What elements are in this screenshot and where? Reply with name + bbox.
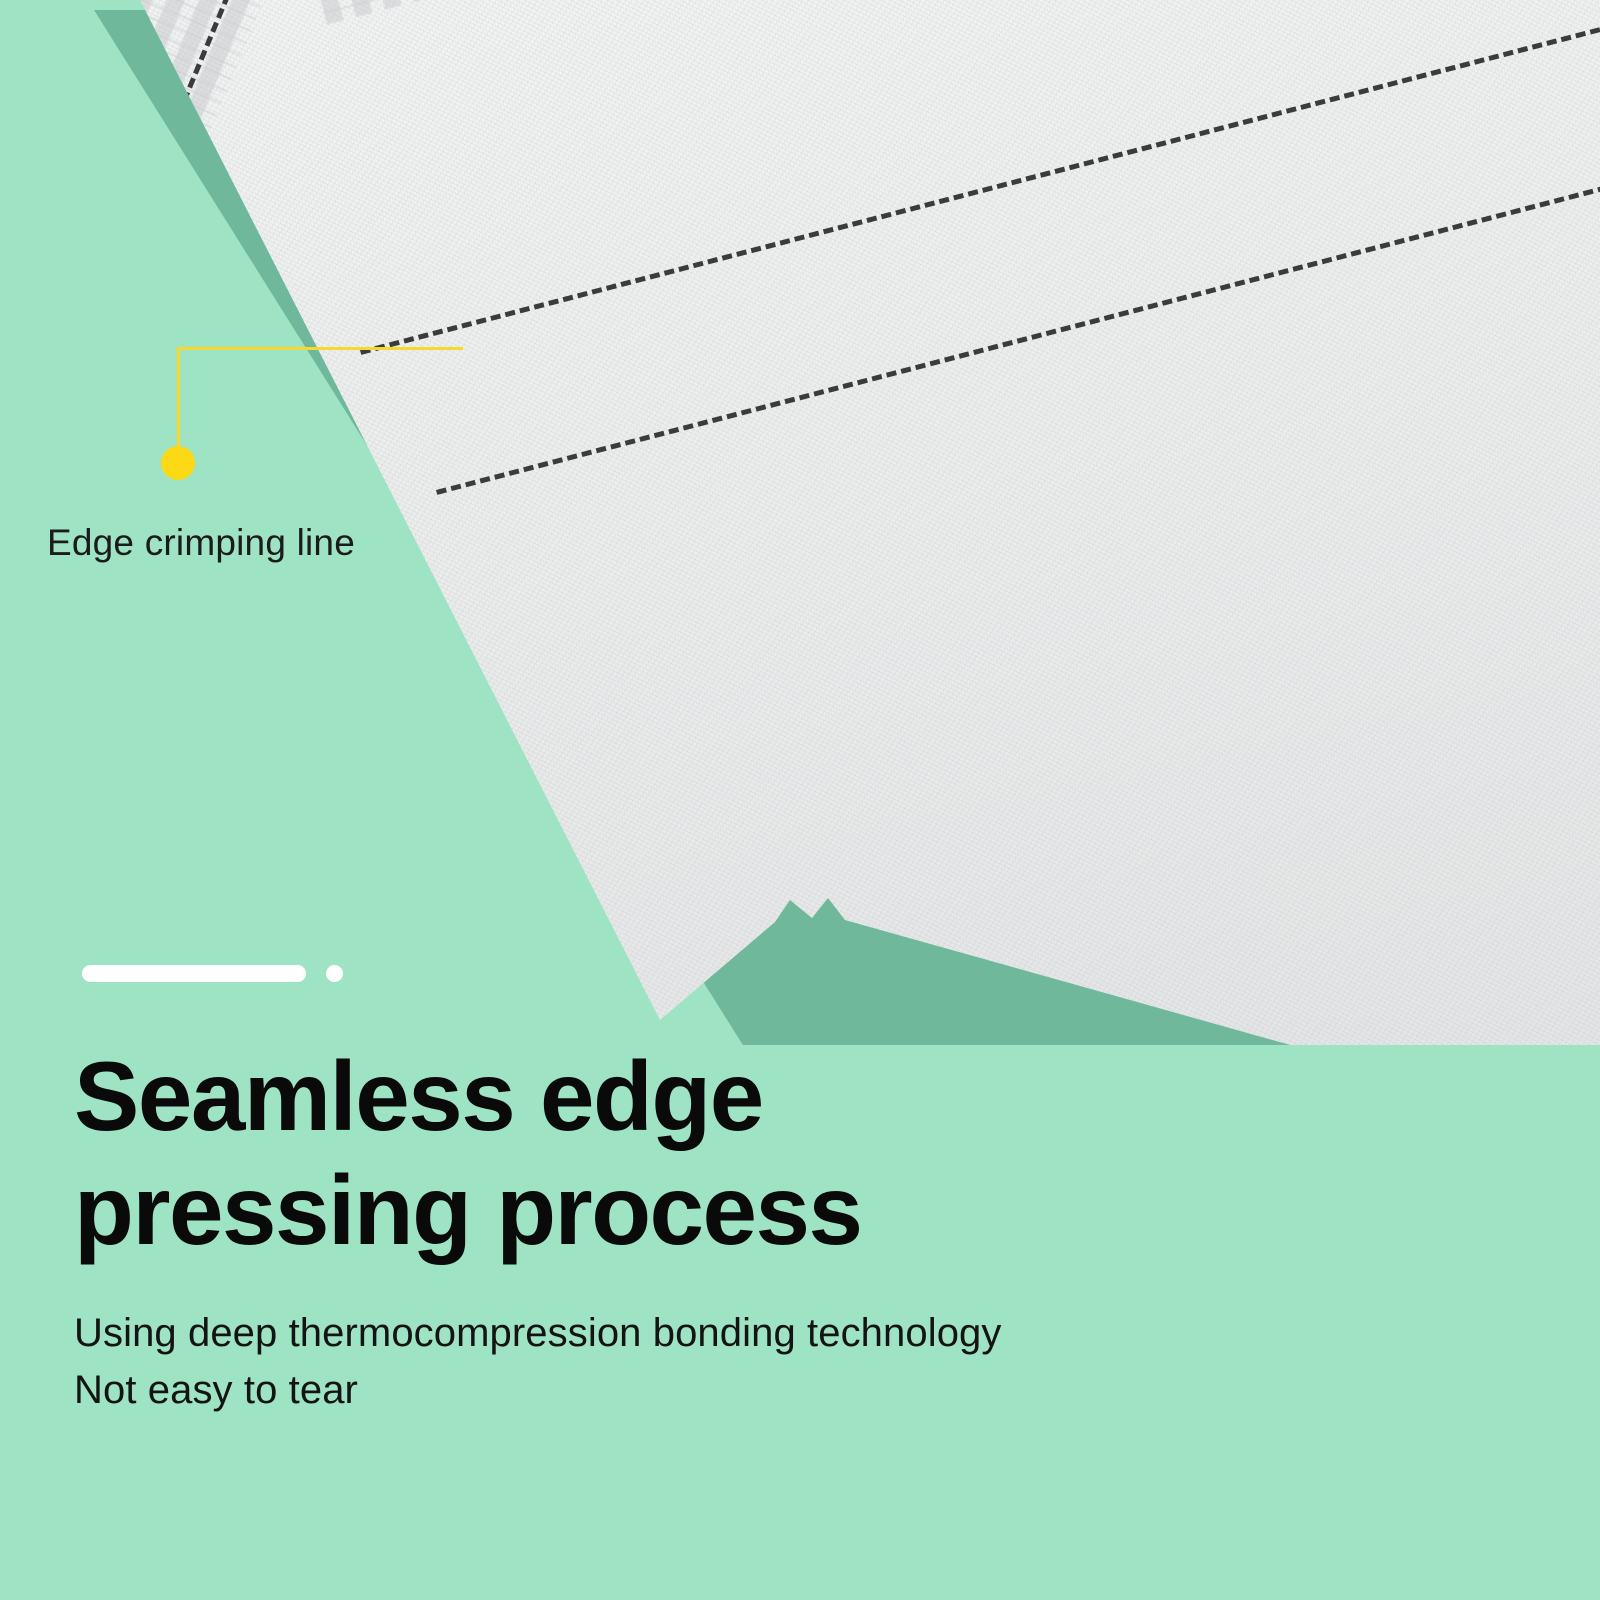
pagination-dot[interactable] (326, 965, 343, 982)
callout-label: Edge crimping line (47, 524, 355, 561)
headline-line-2: pressing process (74, 1154, 1274, 1268)
product-feature-slide: Edge crimping line Seamless edge pressin… (0, 0, 1600, 1600)
subtitle-line-2: Not easy to tear (74, 1362, 1274, 1419)
copy-block: Seamless edge pressing process Using dee… (74, 1040, 1274, 1419)
product-photo: Edge crimping line (0, 0, 1600, 1045)
callout-dot-icon (161, 446, 195, 480)
callout-leader-vertical (177, 347, 180, 451)
page-title: Seamless edge pressing process (74, 1040, 1274, 1267)
page-subtitle: Using deep thermocompression bonding tec… (74, 1305, 1274, 1419)
pagination-active-bar[interactable] (82, 965, 306, 982)
headline-line-1: Seamless edge (74, 1040, 1274, 1154)
subtitle-line-1: Using deep thermocompression bonding tec… (74, 1305, 1274, 1362)
pagination-indicator[interactable] (82, 965, 343, 982)
callout-leader-horizontal (177, 347, 463, 350)
